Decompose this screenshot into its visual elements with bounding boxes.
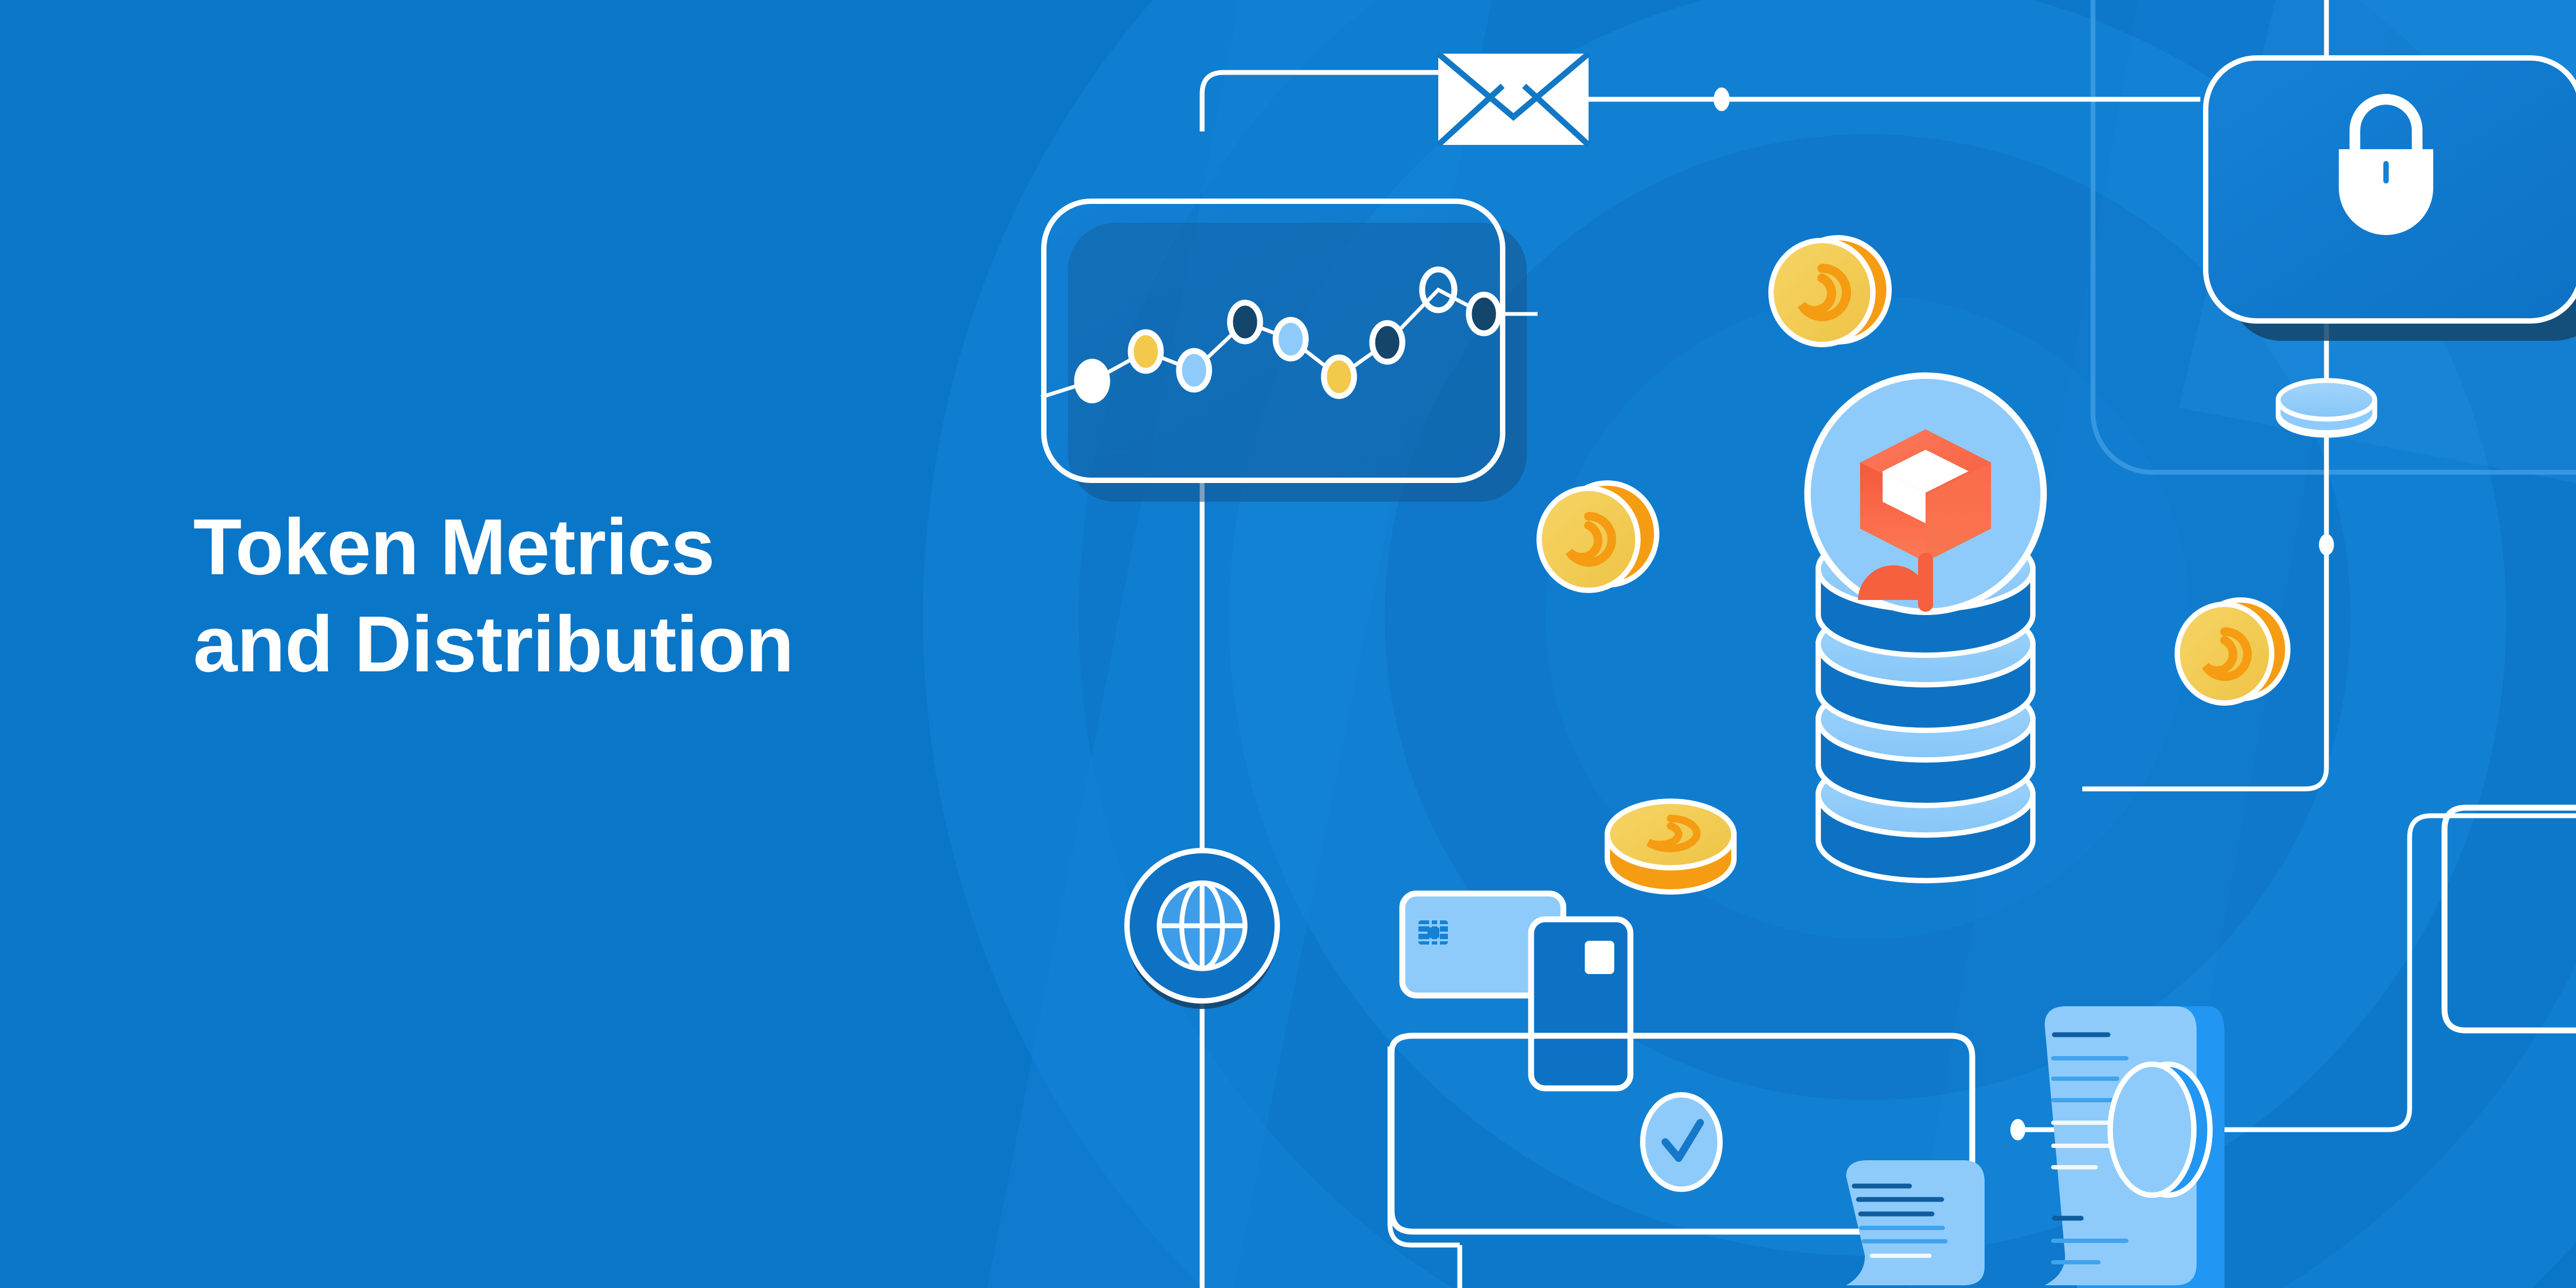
- chart-point: [1131, 332, 1161, 371]
- chart-point: [1179, 351, 1209, 390]
- chart-point: [1230, 303, 1260, 341]
- token-disc-small: [2278, 380, 2375, 435]
- global-network-node[interactable]: [1127, 851, 1277, 1009]
- check-icon: [1643, 1095, 1720, 1189]
- phone-icon[interactable]: [1531, 919, 1630, 1088]
- analytics-chart-card[interactable]: [1041, 201, 1538, 502]
- coin-icon: [1539, 483, 1657, 590]
- coin-icon: [1771, 238, 1889, 345]
- token-database-stack[interactable]: [1807, 376, 2044, 881]
- globe-icon: [1159, 883, 1245, 969]
- connector-dot-1: [1714, 87, 1730, 111]
- chart-point: [1077, 362, 1107, 400]
- envelope-icon: [1438, 54, 1589, 145]
- chart-point: [1324, 357, 1354, 396]
- coin-edge-on: [2110, 1064, 2210, 1195]
- illustration-stage: Token Metrics and Distribution: [0, 0, 2576, 1288]
- chart-point: [1469, 295, 1499, 333]
- card-chip-icon: [1418, 920, 1448, 945]
- connector-dot-2: [2319, 534, 2334, 555]
- receipt-icon: [1846, 1160, 1985, 1285]
- coin-icon: [1607, 801, 1734, 892]
- chart-point: [1276, 320, 1306, 358]
- security-lock-card[interactable]: [2206, 58, 2576, 341]
- page-title: Token Metrics and Distribution: [193, 499, 1132, 693]
- coin-icon: [2177, 600, 2288, 703]
- connector-dot-3: [2010, 1119, 2025, 1140]
- chart-point: [1372, 323, 1402, 362]
